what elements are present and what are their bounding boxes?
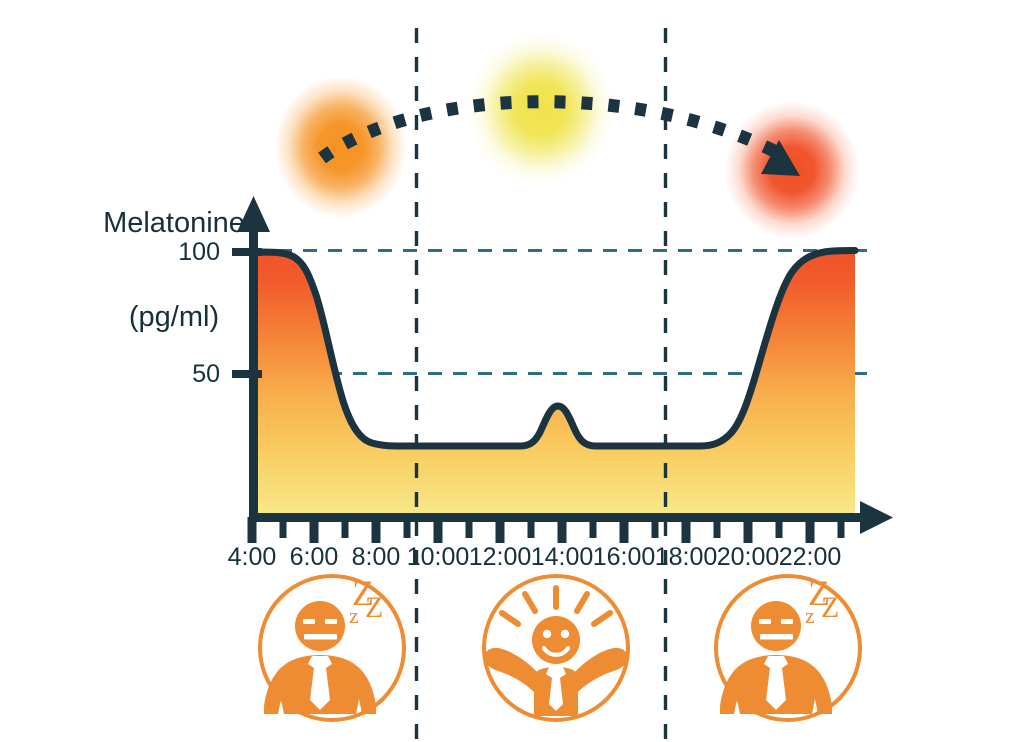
zzz-letter-2: z xyxy=(805,603,815,628)
person-icons-layer: Z z Z xyxy=(0,0,1024,742)
person-sleeping-evening: Z z Z xyxy=(716,573,860,720)
zzz-letter-3: Z xyxy=(821,591,839,624)
chart-canvas: Melatonine (pg/ml) 100 50 4:00 6:00 8:00… xyxy=(0,0,1024,742)
person-sleeping-morning: Z z Z xyxy=(260,573,404,720)
zzz-letter-2: z xyxy=(349,603,359,628)
person-awake-midday xyxy=(484,576,628,720)
zzz-letter-3: Z xyxy=(365,591,383,624)
